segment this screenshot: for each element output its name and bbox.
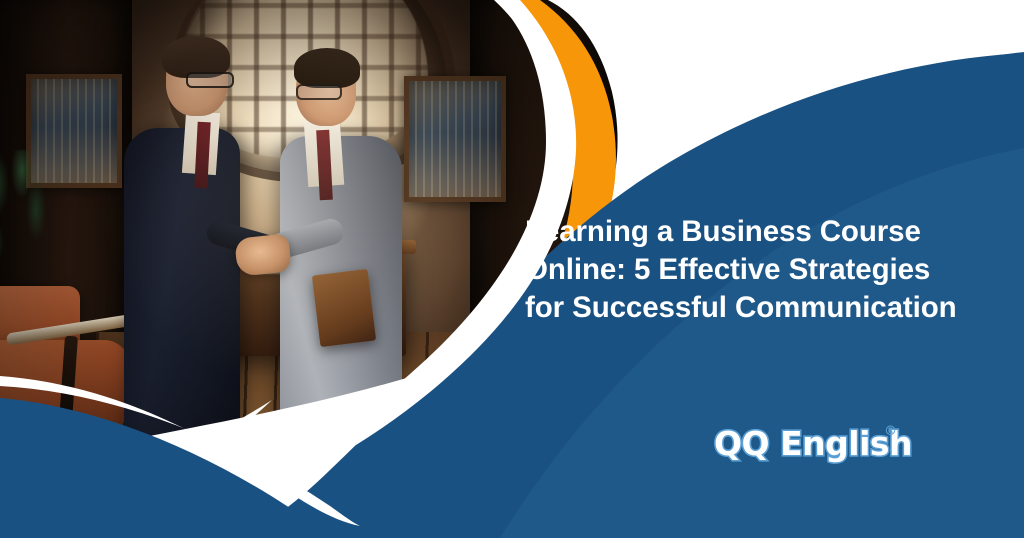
qq-english-logo[interactable]: QQ English ® xyxy=(714,424,914,468)
headline-line-3: for Successful Communication xyxy=(525,289,1013,327)
headline: Learning a Business Course Online: 5 Eff… xyxy=(525,213,1013,327)
registered-trademark-icon: ® xyxy=(884,424,897,439)
promo-banner: Learning a Business Course Online: 5 Eff… xyxy=(0,0,1024,538)
logo-wordmark: QQ English xyxy=(714,424,912,464)
headline-line-2: Online: 5 Effective Strategies xyxy=(525,251,1013,289)
headline-line-1: Learning a Business Course xyxy=(525,213,1013,251)
